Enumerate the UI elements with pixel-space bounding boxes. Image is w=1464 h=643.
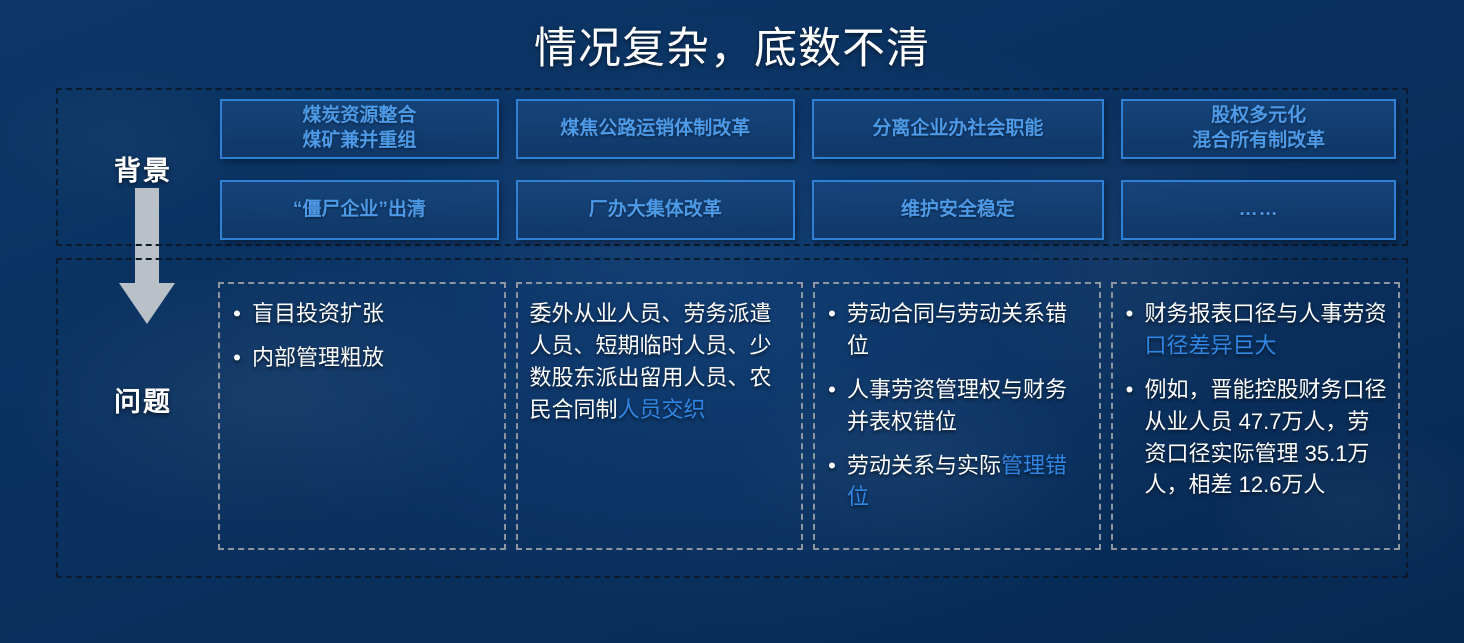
list-item-text: 人事劳资管理权与财务并表权错位 [847, 374, 1089, 438]
tag-line-1: 煤炭资源整合 [302, 104, 416, 129]
page-title: 情况复杂，底数不清 [0, 14, 1464, 76]
list-item-text: 内部管理粗放 [252, 342, 494, 374]
background-tag-box[interactable]: 股权多元化 混合所有制改革 [1121, 99, 1396, 159]
list-item: • 劳动合同与劳动关系错位 [823, 298, 1089, 362]
tag-line-2: 煤矿兼并重组 [302, 129, 416, 154]
list-item-text: 劳动关系与实际 [847, 453, 1001, 478]
list-item: • 劳动关系与实际管理错位 [823, 450, 1089, 514]
highlight-text: 口径差异巨大 [1145, 333, 1277, 358]
tag-line-1: 维护安全稳定 [901, 198, 1015, 223]
bullet-list: • 盲目投资扩张 • 内部管理粗放 [228, 298, 494, 374]
tag-line-1: 煤焦公路运销体制改革 [560, 117, 750, 142]
list-item: • 盲目投资扩张 [228, 298, 494, 330]
tag-line-1: “僵尸企业”出清 [293, 198, 426, 223]
tag-line-1: 股权多元化 [1211, 104, 1306, 129]
bullet-icon: • [823, 450, 841, 482]
bullet-list: • 财务报表口径与人事劳资口径差异巨大 • 例如，晋能控股财务口径从业人员 47… [1121, 298, 1388, 501]
list-item-text-composite: 劳动关系与实际管理错位 [847, 450, 1089, 514]
bullet-icon: • [823, 374, 841, 406]
list-item-text: 盲目投资扩张 [252, 298, 494, 330]
problem-column: 委外从业人员、劳务派遣人员、短期临时人员、少数股东派出留用人员、农民合同制人员交… [516, 282, 804, 550]
background-tag-box[interactable]: “僵尸企业”出清 [220, 180, 499, 240]
ellipsis-text: …… [1239, 198, 1279, 223]
paragraph-text: 委外从业人员、劳务派遣人员、短期临时人员、少数股东派出留用人员、农民合同制人员交… [526, 298, 792, 426]
background-tag-row-2: “僵尸企业”出清 厂办大集体改革 维护安全稳定 …… [220, 180, 1396, 240]
tag-line-2: 混合所有制改革 [1192, 129, 1325, 154]
tag-line-1: 厂办大集体改革 [589, 198, 722, 223]
bullet-icon: • [1121, 374, 1139, 406]
slide-root: 情况复杂，底数不清 背景 问题 煤炭资源整合 煤矿兼并重组 煤焦公路运销体制改革… [0, 0, 1464, 643]
list-item: • 财务报表口径与人事劳资口径差异巨大 [1121, 298, 1388, 362]
problem-column: • 盲目投资扩张 • 内部管理粗放 [218, 282, 506, 550]
highlight-text: 人员交织 [618, 397, 706, 422]
list-item: • 人事劳资管理权与财务并表权错位 [823, 374, 1089, 438]
background-tag-box[interactable]: 分离企业办社会职能 [812, 99, 1105, 159]
background-tag-row-1: 煤炭资源整合 煤矿兼并重组 煤焦公路运销体制改革 分离企业办社会职能 股权多元化… [220, 99, 1396, 159]
bullet-icon: • [823, 298, 841, 330]
bullet-icon: • [228, 342, 246, 374]
problem-column: • 劳动合同与劳动关系错位 • 人事劳资管理权与财务并表权错位 • 劳动关系与实… [813, 282, 1101, 550]
background-tag-box[interactable]: 维护安全稳定 [812, 180, 1105, 240]
bullet-icon: • [228, 298, 246, 330]
list-item: • 内部管理粗放 [228, 342, 494, 374]
tag-line-1: 分离企业办社会职能 [872, 117, 1043, 142]
list-item-text: 劳动合同与劳动关系错位 [847, 298, 1089, 362]
list-item-text-composite: 财务报表口径与人事劳资口径差异巨大 [1145, 298, 1388, 362]
bullet-list: • 劳动合同与劳动关系错位 • 人事劳资管理权与财务并表权错位 • 劳动关系与实… [823, 298, 1089, 513]
background-tag-box[interactable]: 煤炭资源整合 煤矿兼并重组 [220, 99, 499, 159]
problem-columns: • 盲目投资扩张 • 内部管理粗放 委外从业人员、劳务派遣人员、短期临时人员、少… [218, 282, 1400, 550]
background-tag-box[interactable]: 煤焦公路运销体制改革 [516, 99, 795, 159]
background-tag-box[interactable]: …… [1121, 180, 1396, 240]
list-item: • 例如，晋能控股财务口径从业人员 47.7万人，劳资口径实际管理 35.1万人… [1121, 374, 1388, 502]
list-item-text: 例如，晋能控股财务口径从业人员 47.7万人，劳资口径实际管理 35.1万人，相… [1145, 374, 1388, 502]
bullet-icon: • [1121, 298, 1139, 330]
problem-column: • 财务报表口径与人事劳资口径差异巨大 • 例如，晋能控股财务口径从业人员 47… [1111, 282, 1400, 550]
background-tag-box[interactable]: 厂办大集体改革 [516, 180, 795, 240]
list-item-text: 财务报表口径与人事劳资 [1145, 301, 1387, 326]
